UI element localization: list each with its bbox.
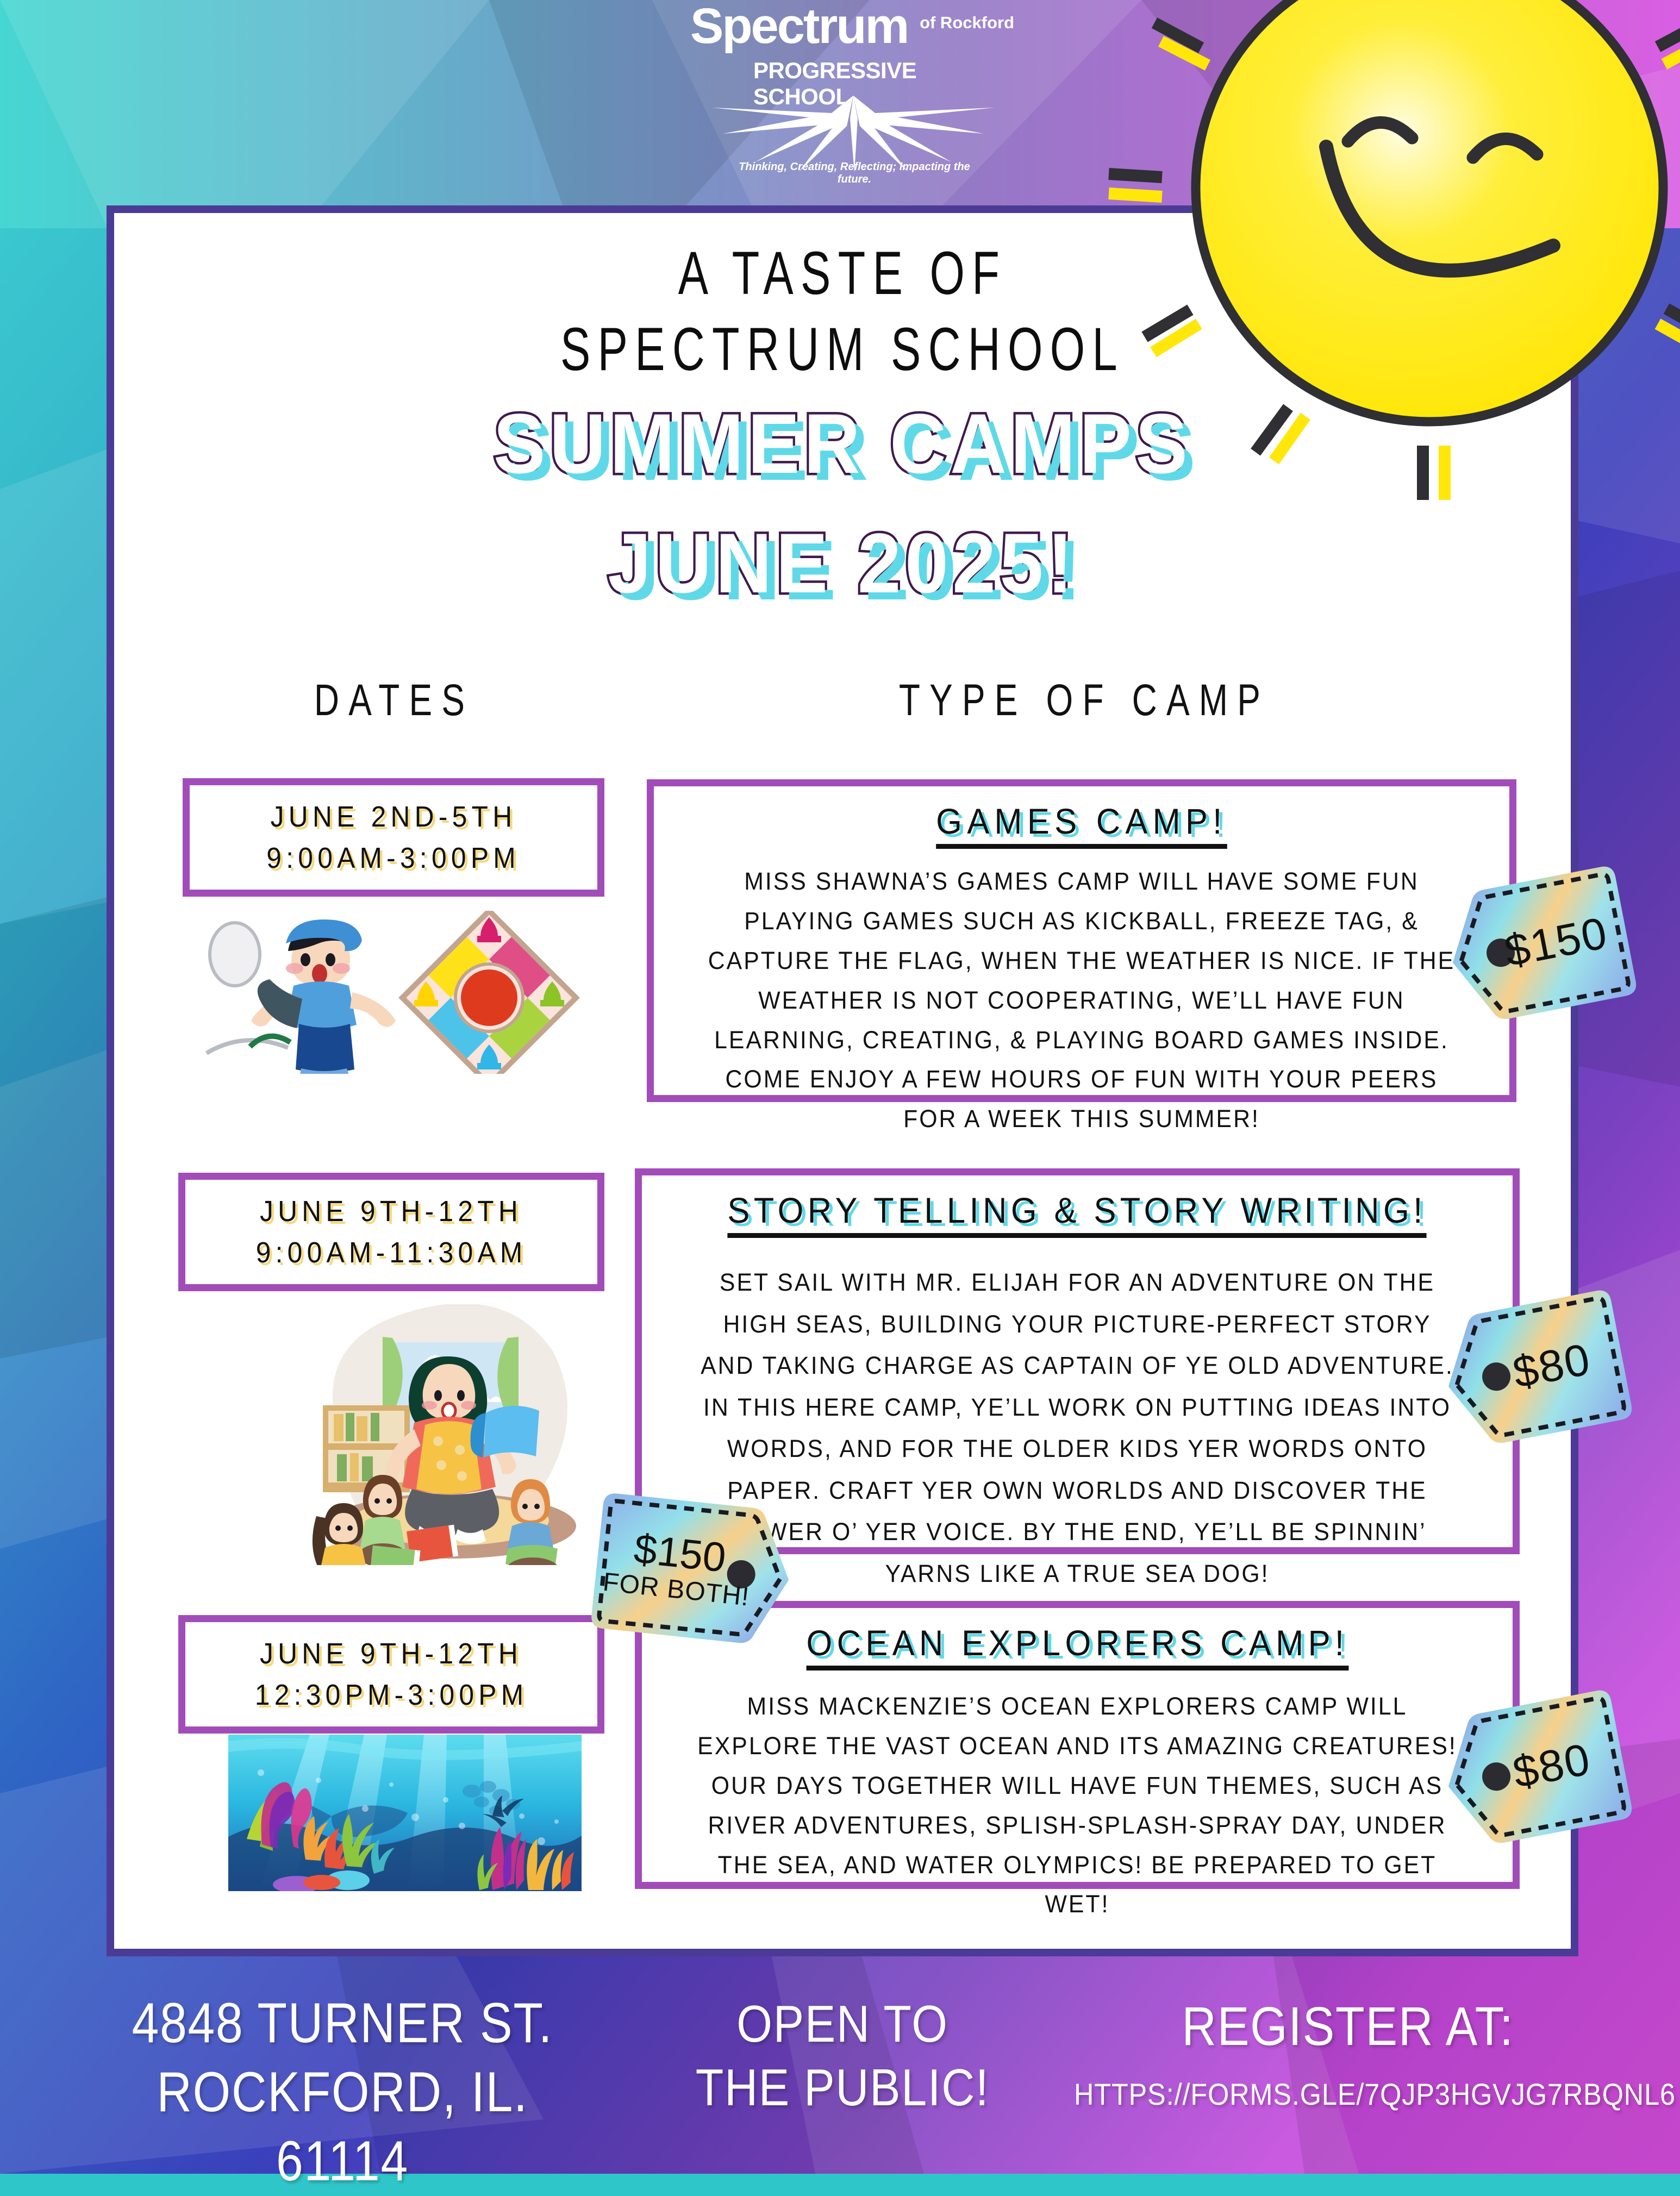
address-line-2: ROCKFORD, IL. 61114 [95,2058,590,2196]
time-line: 9:00AM-3:00PM [267,841,521,875]
title-june-2025: JUNE 2025! [165,515,1519,612]
time-line: 12:30PM-3:00PM [255,1678,528,1712]
camp-title-ocean: OCEAN EXPLORERS CAMP! [806,1622,1348,1671]
camp-description-ocean: MISS MACKENZIE’S OCEAN EXPLORERS CAMP WI… [694,1687,1461,1924]
date-box-ocean-camp: JUNE 9TH-12TH 12:30PM-3:00PM [178,1615,604,1734]
date-line: JUNE 9TH-12TH [260,1637,522,1671]
title-summer-camps: SUMMER CAMPS [165,396,1519,493]
footer-address: 4848 TURNER ST. ROCKFORD, IL. 61114 [95,1989,590,2196]
price-tag-combo: $150 FOR BOTH! [590,1492,799,1648]
date-line: JUNE 9TH-12TH [260,1194,522,1228]
camp-description-story: SET SAIL WITH MR. ELIJAH FOR AN ADVENTUR… [694,1262,1461,1594]
date-box-games-camp: JUNE 2ND-5TH 9:00AM-3:00PM [183,778,604,897]
headline-line-2: SPECTRUM SCHOOL [298,314,1387,384]
column-header-dates: DATES [227,675,561,726]
logo-of-rockford: of Rockford [920,13,1014,33]
register-heading: REGISTER AT: [1080,1995,1616,2058]
camp-title-story: STORY TELLING & STORY WRITING! [728,1190,1427,1238]
headline-line-1: A TASTE OF [298,238,1387,308]
open-line-1: OPEN TO [680,1992,1005,2056]
footer-open-to-public: OPEN TO THE PUBLIC! [680,1992,1005,2119]
camp-box-games: GAMES CAMP! MISS SHAWNA’S GAMES CAMP WIL… [647,779,1516,1102]
date-box-story-camp: JUNE 9TH-12TH 9:00AM-11:30AM [178,1173,604,1291]
logo-tagline: Thinking, Creating, Reflecting; Impactin… [724,161,985,186]
camp-description-games: MISS SHAWNA’S GAMES CAMP WILL HAVE SOME … [705,862,1458,1139]
footer-register: REGISTER AT: HTTPS://FORMS.GLE/7QJP3HGVJ… [1044,1995,1652,2112]
date-line: JUNE 2ND-5TH [271,800,517,834]
column-header-type-of-camp: TYPE OF CAMP [739,675,1429,726]
open-line-2: THE PUBLIC! [680,2056,1005,2119]
teacher-reading-to-children-icon [272,1304,620,1565]
camp-title-games: GAMES CAMP! [936,800,1227,849]
address-line-1: 4848 TURNER ST. [95,1989,590,2058]
kickball-and-board-game-icon [185,911,598,1074]
register-url[interactable]: HTTPS://FORMS.GLE/7QJP3HGVJG7RBQNL6 [1074,2076,1622,2112]
school-logo: Spectrum of Rockford PROGRESSIVE SCHOOL … [690,0,1016,187]
time-line: 9:00AM-11:30AM [256,1236,527,1269]
camp-box-story: STORY TELLING & STORY WRITING! SET SAIL … [635,1168,1520,1554]
underwater-coral-reef-icon [228,1735,582,1891]
